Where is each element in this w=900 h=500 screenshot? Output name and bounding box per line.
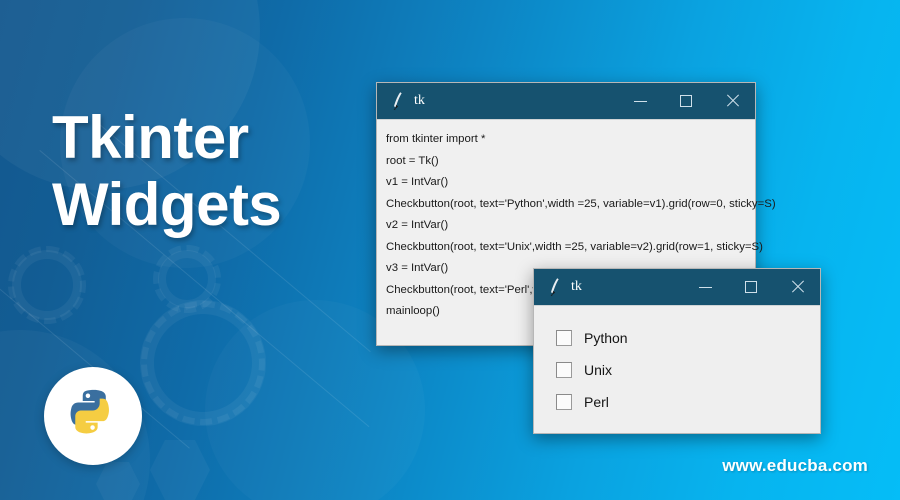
code-line: root = Tk() [386,151,747,173]
code-window-controls [617,83,755,119]
close-button[interactable] [774,269,820,305]
code-line: Checkbutton(root, text='Python',width =2… [386,194,747,216]
code-line: Checkbutton(root, text='Unix',width =25,… [386,237,747,259]
checkbutton-perl[interactable]: Perl [534,386,820,418]
output-window-titlebar[interactable]: tk [534,269,820,305]
banner-canvas: Tkinter Widgets www.educba.com tk fro [0,0,900,500]
decor-gear-icon [158,250,216,308]
checkbutton-unix[interactable]: Unix [534,354,820,386]
decor-gear-icon [12,250,82,320]
maximize-button[interactable] [728,269,774,305]
minimize-button[interactable] [617,83,663,119]
tk-feather-icon [386,90,408,112]
code-window-titlebar[interactable]: tk [377,83,755,119]
decor-gear-icon [140,300,266,426]
minimize-button[interactable] [682,269,728,305]
python-logo [44,367,142,465]
checkbutton-label: Perl [584,394,609,410]
checkbutton-list: Python Unix Perl [534,305,820,433]
tk-feather-icon [543,276,565,298]
code-line: v1 = IntVar() [386,172,747,194]
output-window-title: tk [571,279,582,295]
checkbutton-label: Python [584,330,628,346]
code-line: v2 = IntVar() [386,215,747,237]
page-title: Tkinter Widgets [52,104,281,238]
python-logo-icon [65,388,121,444]
checkbox-icon[interactable] [556,362,572,378]
checkbox-icon[interactable] [556,394,572,410]
decor-hexagon [96,462,140,500]
checkbox-icon[interactable] [556,330,572,346]
site-url: www.educba.com [722,456,868,476]
close-button[interactable] [709,83,755,119]
page-title-line2: Widgets [52,171,281,238]
checkbutton-python[interactable]: Python [534,322,820,354]
output-window[interactable]: tk Python Unix Perl [533,268,821,434]
page-title-line1: Tkinter [52,104,249,171]
checkbutton-label: Unix [584,362,612,378]
maximize-button[interactable] [663,83,709,119]
code-line: from tkinter import * [386,129,747,151]
decor-hexagon [150,440,210,500]
code-window-title: tk [414,93,425,109]
output-window-controls [682,269,820,305]
